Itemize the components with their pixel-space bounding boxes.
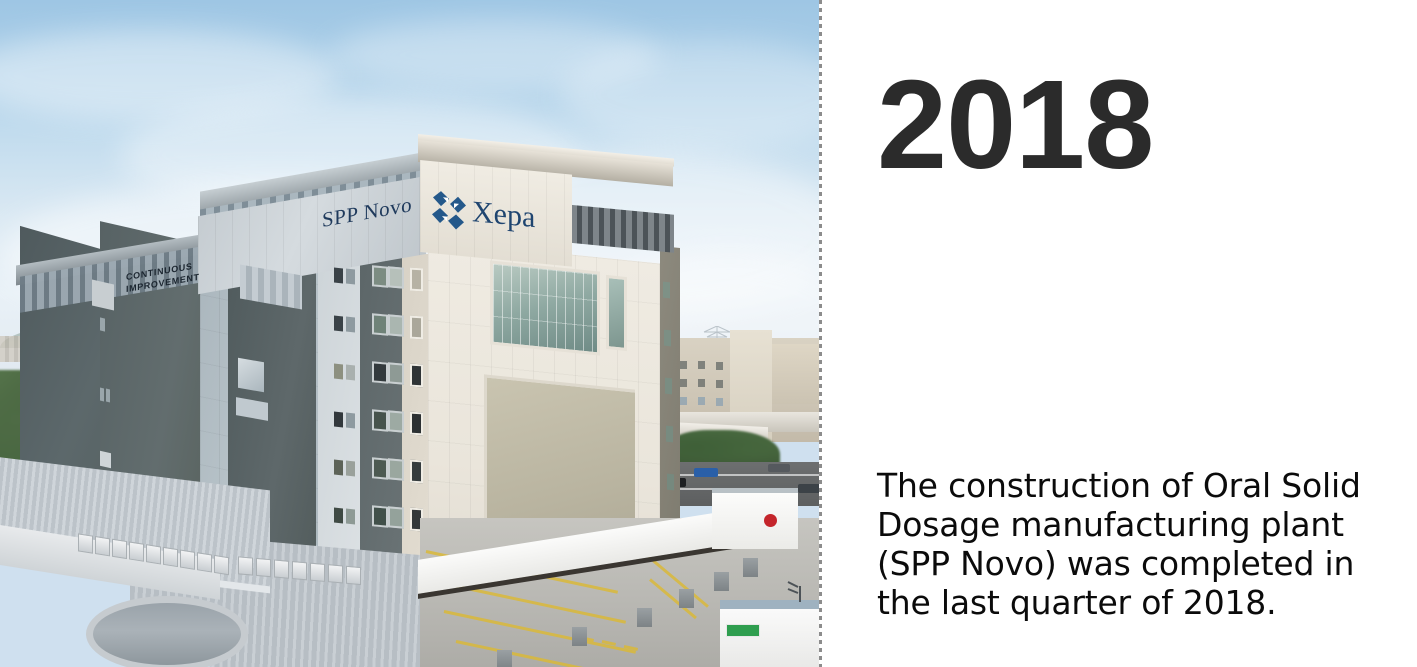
bollard (497, 650, 512, 667)
curtain-wall-windows (490, 260, 600, 355)
alarm-bell-icon (764, 514, 777, 527)
building-photo: SPP Novo Xepa CONTINUOUS IMPROVEMENT (0, 0, 822, 667)
photo-crop-edge (819, 0, 822, 667)
circular-roof-feature (86, 596, 248, 667)
bollard (679, 589, 694, 608)
bollard (714, 572, 729, 591)
background-office-block (772, 344, 822, 404)
bollard (743, 558, 758, 577)
flood-light-icon (786, 580, 814, 602)
text-panel: 2018 The construction of Oral Solid Dosa… (822, 0, 1417, 667)
slide-root: SPP Novo Xepa CONTINUOUS IMPROVEMENT (0, 0, 1417, 667)
description-paragraph: The construction of Oral Solid Dosage ma… (877, 466, 1382, 622)
cloud (560, 40, 822, 150)
bollard (637, 608, 652, 627)
xepa-diamond-logo-icon (428, 187, 470, 233)
bollard (572, 627, 587, 646)
rooftop-utility-hut (712, 488, 798, 549)
slim-window (606, 275, 627, 351)
exit-sign-icon (726, 624, 760, 637)
xepa-wordmark: Xepa (472, 197, 535, 233)
year-heading: 2018 (877, 62, 1153, 188)
